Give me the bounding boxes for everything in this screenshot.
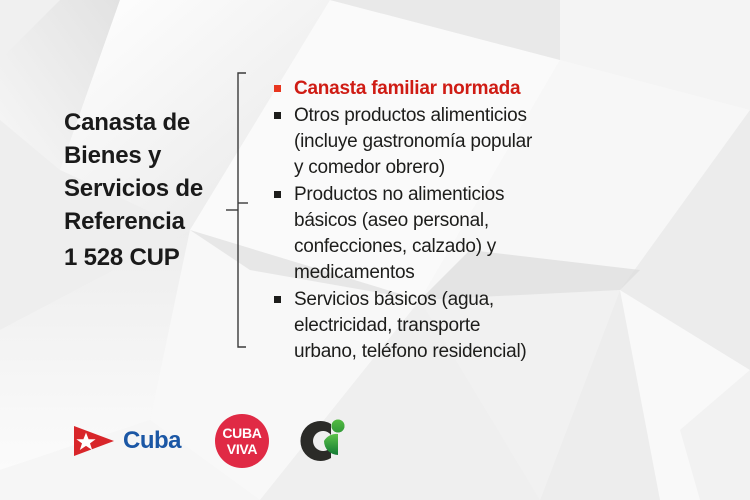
list-item: Otros productos alimenticios (incluye ga… [272, 103, 612, 181]
cuba-wordmark: Cuba [123, 427, 181, 455]
bullet-line: medicamentos [294, 260, 612, 286]
square-bullet-icon [274, 296, 281, 303]
bullet-line: Productos no alimenticios [294, 182, 612, 208]
title-line-4: Referencia [64, 205, 239, 238]
cuba-flag-triangle-star-icon [72, 424, 116, 458]
page-title: Canasta de Bienes y Servicios de Referen… [64, 106, 239, 274]
logo-row: Cuba CUBA VIVA [72, 410, 347, 472]
list-item: Productos no alimenticios básicos (aseo … [272, 182, 612, 286]
square-bullet-icon [274, 85, 281, 92]
square-bullet-icon [274, 191, 281, 198]
ci-monogram-icon [291, 413, 347, 469]
bullet-list: Canasta familiar normada Otros productos… [272, 76, 612, 366]
title-line-3: Servicios de [64, 172, 239, 205]
cuba-viva-line-1: CUBA [222, 426, 261, 440]
bullet-line: confecciones, calzado) y [294, 234, 612, 260]
cuba-brand-logo: Cuba [72, 413, 181, 469]
list-item: Canasta familiar normada [272, 76, 612, 102]
bullet-line: electricidad, transporte [294, 313, 612, 339]
bullet-line: y comedor obrero) [294, 155, 612, 181]
cuba-viva-logo: CUBA VIVA [215, 413, 269, 469]
bullet-line: urbano, teléfono residencial) [294, 339, 612, 365]
title-line-1: Canasta de [64, 106, 239, 139]
ci-logo [291, 413, 347, 469]
bullet-line: Otros productos alimenticios [294, 103, 612, 129]
cuba-viva-line-2: VIVA [227, 442, 257, 456]
bullet-line: básicos (aseo personal, [294, 208, 612, 234]
title-line-2: Bienes y [64, 139, 239, 172]
list-item: Servicios básicos (agua, electricidad, t… [272, 287, 612, 365]
square-bullet-icon [274, 112, 281, 119]
slide-canvas: Canasta de Bienes y Servicios de Referen… [0, 0, 750, 500]
title-amount: 1 528 CUP [64, 241, 239, 274]
bullet-line: Servicios básicos (agua, [294, 287, 612, 313]
bullet-line: (incluye gastronomía popular [294, 129, 612, 155]
bullet-line: Canasta familiar normada [294, 76, 612, 102]
cuba-viva-circle-icon: CUBA VIVA [215, 414, 269, 468]
